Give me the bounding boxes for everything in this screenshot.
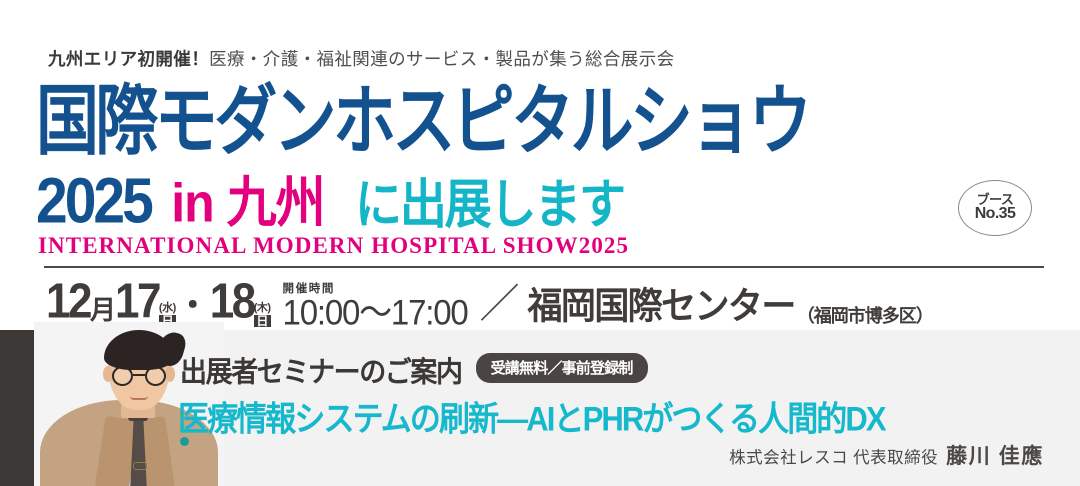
event-day2-unit: 日: [254, 315, 271, 327]
speaker-name: 藤川 佳應: [946, 445, 1044, 468]
event-day2-dow: (木): [254, 303, 271, 314]
event-day1-dow: (水): [159, 303, 176, 314]
seminar-free-badge: 受講無料／事前登録制: [476, 353, 648, 383]
event-time-block: 開催時間10:00〜17:00: [283, 279, 468, 330]
event-year: 2025: [36, 164, 151, 238]
english-subtitle: INTERNATIONAL MODERN HOSPITAL SHOW2025: [38, 233, 629, 259]
exhibit-statement: に出展します: [355, 161, 624, 238]
banner-top-section: 九州エリア初開催！医療・介護・福祉関連のサービス・製品が集う総合展示会 国際モダ…: [0, 0, 1080, 330]
venue-name: 福岡国際センター: [528, 276, 795, 330]
seminar-title: 医療情報システムの刷新―AIとPHRがつくる人間的DX: [178, 391, 885, 441]
date-separator: ・: [176, 280, 210, 326]
event-banner: 九州エリア初開催！医療・介護・福祉関連のサービス・製品が集う総合展示会 国際モダ…: [0, 0, 1080, 486]
speaker-credit: 株式会社レスコ 代表取締役藤川 佳應: [729, 440, 1044, 470]
event-location-in: in 九州: [171, 159, 324, 238]
event-time-value: 10:00〜17:00: [283, 294, 468, 330]
event-title: 国際モダンホスピタルショウ: [36, 84, 808, 161]
booth-number-badge: ブース No.35: [958, 180, 1032, 236]
event-title-secondline: 2025 in 九州 に出展します: [36, 166, 624, 228]
kicker-rest: 医療・介護・福祉関連のサービス・製品が集う総合展示会: [209, 49, 674, 69]
horizontal-divider: [44, 266, 1044, 268]
glasses-bridge-icon: [133, 374, 145, 376]
booth-badge-label: ブース: [977, 193, 1014, 207]
venue-divider-slash: ／: [480, 271, 520, 329]
photo-tie-clip: [133, 462, 147, 470]
banner-kicker: 九州エリア初開催！医療・介護・福祉関連のサービス・製品が集う総合展示会: [48, 46, 675, 71]
seminar-heading-row: 出展者セミナーのご案内受講無料／事前登録制: [180, 350, 648, 389]
event-date-row: 12月17(水)日・18(木)日開催時間10:00〜17:00／福岡国際センター…: [46, 272, 933, 318]
venue-location: （福岡市博多区）: [797, 302, 933, 328]
speaker-organization: 株式会社レスコ 代表取締役: [729, 449, 938, 467]
booth-badge-number: No.35: [975, 206, 1016, 223]
event-day2-dow-badge: (木)日: [254, 303, 271, 327]
kicker-strong: 九州エリア初開催！: [48, 49, 209, 69]
seminar-heading: 出展者セミナーのご案内: [180, 349, 462, 390]
photo-ear-right: [165, 366, 175, 382]
photo-mouth: [130, 396, 148, 400]
